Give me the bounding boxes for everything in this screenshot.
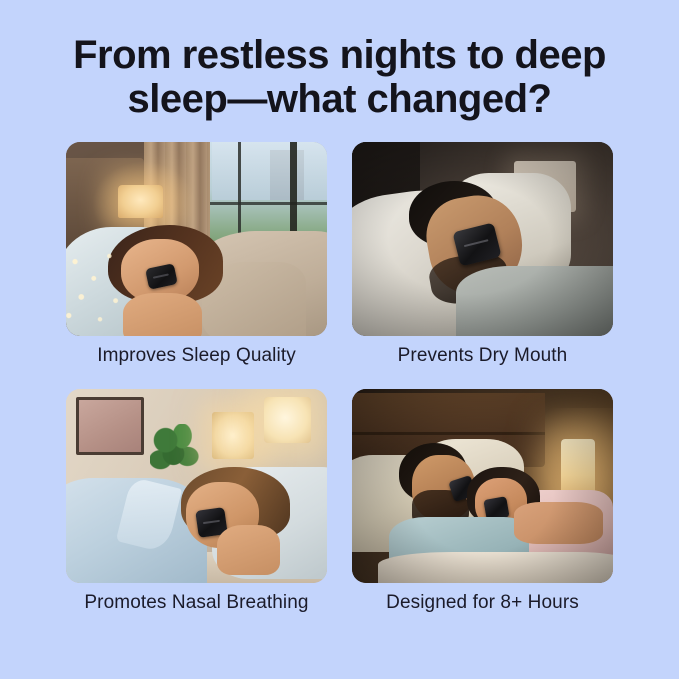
lamp-shade-1: [212, 412, 254, 459]
woman-arm-shape: [514, 502, 603, 545]
hair-shape: [409, 181, 498, 247]
tile-caption: Improves Sleep Quality: [66, 344, 327, 368]
pillow-left-shape: [352, 455, 436, 552]
plant-shape: [150, 424, 202, 478]
headboard-line: [352, 432, 545, 435]
lamp-shade: [118, 185, 162, 218]
lamp-stem: [541, 212, 549, 255]
lamp-glow: [514, 408, 613, 548]
benefit-tile-prevents-dry-mouth: Prevents Dry Mouth: [352, 142, 613, 336]
photo-man-sleeping-dark-bedroom: [352, 142, 613, 336]
mouth-tape-patch: [453, 223, 502, 267]
photo-woman-blue-pyjamas-bedroom: [66, 389, 327, 583]
lamp-shade: [561, 439, 595, 505]
tile-caption: Promotes Nasal Breathing: [66, 591, 327, 615]
vignette-overlay: [352, 389, 613, 583]
pillow-shape: [212, 467, 327, 580]
framed-art: [76, 397, 144, 455]
building-shape: [270, 150, 304, 200]
face-shape: [186, 482, 259, 548]
pyjama-shape: [66, 478, 207, 583]
bed-shape: [66, 552, 327, 583]
beard-shape: [427, 248, 512, 307]
sky-shape: [212, 142, 327, 200]
headboard-shape: [352, 393, 545, 467]
duvet-shape: [378, 552, 613, 583]
photo-woman-sleeping-hotel-bedroom: [66, 142, 327, 336]
pillow-shape: [66, 227, 176, 336]
window-mullion-vertical-1: [238, 142, 241, 301]
body-shape: [456, 266, 613, 336]
benefits-grid: Improves Sleep Quality Prevents Dry Mout…: [66, 142, 613, 637]
woman-hair-shape: [467, 467, 540, 525]
infographic-page: From restless nights to deep sleep—what …: [0, 0, 679, 679]
mouth-tape-patch: [195, 507, 227, 538]
mouth-tape-patch: [145, 263, 178, 290]
headboard-shape: [352, 142, 420, 251]
hands-shape: [123, 293, 201, 336]
benefit-tile-promotes-nasal-breathing: Promotes Nasal Breathing: [66, 389, 327, 583]
benefit-tile-designed-for-8-hours: Designed for 8+ Hours: [352, 389, 613, 583]
pillow-back-shape: [446, 173, 571, 289]
lamp-shade-2: [264, 397, 311, 444]
vignette-overlay: [352, 142, 613, 336]
curtain-shape: [144, 142, 212, 293]
man-beard-shape: [412, 490, 469, 533]
woman-mouth-tape-patch: [483, 496, 510, 521]
man-shirt-shape: [389, 517, 530, 583]
lamp-glow: [92, 161, 196, 246]
lamp-shade: [514, 161, 577, 211]
tile-caption: Designed for 8+ Hours: [352, 591, 613, 615]
window-mullion-horizontal: [210, 202, 327, 205]
wall-shape: [352, 142, 613, 336]
benefit-tile-improves-sleep-quality: Improves Sleep Quality: [66, 142, 327, 336]
page-headline: From restless nights to deep sleep—what …: [0, 33, 679, 121]
pillow-middle-shape: [420, 439, 524, 517]
arm-shape: [202, 262, 306, 336]
tile-caption: Prevents Dry Mouth: [352, 344, 613, 368]
window-mullion-vertical-2: [290, 142, 297, 301]
body-shape: [186, 231, 327, 336]
hair-shape: [181, 467, 291, 541]
face-shape: [121, 239, 199, 303]
hair-shape: [108, 225, 223, 303]
wall-shape: [352, 389, 613, 583]
fairy-lights: [66, 243, 139, 336]
woman-face-shape: [475, 478, 527, 528]
photo-couple-sleeping-bedroom: [352, 389, 613, 583]
pillow-shape: [352, 181, 508, 336]
collar-shape: [116, 477, 183, 554]
man-mouth-tape-patch: [448, 475, 477, 503]
man-face-shape: [412, 455, 475, 521]
wall-shape: [66, 142, 170, 336]
headboard-shape: [66, 158, 144, 247]
man-hair-shape: [399, 443, 467, 501]
wall-shape: [66, 389, 327, 529]
woman-shirt-shape: [503, 490, 613, 575]
hands-shape: [217, 525, 280, 575]
window-shape: [210, 142, 327, 301]
face-shape: [420, 189, 529, 301]
